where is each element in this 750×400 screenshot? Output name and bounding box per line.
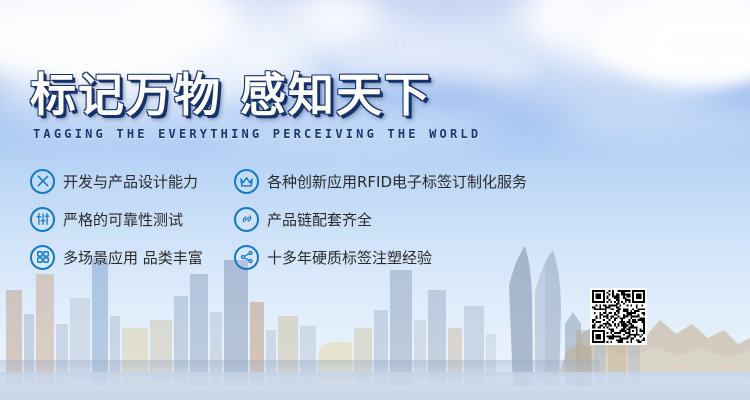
share-icon (234, 245, 259, 270)
feature-label: 开发与产品设计能力 (63, 171, 198, 192)
page-title: 标记万物感知天下 (30, 72, 481, 118)
feature-item[interactable]: 开发与产品设计能力 (30, 162, 203, 200)
feature-column-left: 开发与产品设计能力 严格的可靠性测试 (30, 162, 203, 276)
crown-icon (234, 169, 259, 194)
title-part-1: 标记万物 (30, 69, 222, 121)
feature-item[interactable]: 十多年硬质标签注塑经验 (234, 238, 527, 276)
qr-code[interactable] (590, 288, 647, 345)
feature-label: 严格的可靠性测试 (63, 209, 183, 230)
waterfront (0, 372, 750, 400)
headline-block: 标记万物感知天下 TAGGING THE EVERYTHING PERCEIVI… (30, 72, 481, 141)
sliders-icon (30, 207, 55, 232)
title-part-2: 感知天下 (240, 69, 432, 121)
feature-item[interactable]: 产品链配套齐全 (234, 200, 527, 238)
grid-icon (30, 245, 55, 270)
feature-list: 开发与产品设计能力 严格的可靠性测试 (0, 162, 750, 280)
feature-label: 多场景应用 品类丰富 (63, 247, 203, 268)
link-icon (234, 207, 259, 232)
feature-item[interactable]: 多场景应用 品类丰富 (30, 238, 203, 276)
tools-icon (30, 169, 55, 194)
feature-label: 产品链配套齐全 (267, 209, 372, 230)
feature-item[interactable]: 严格的可靠性测试 (30, 200, 203, 238)
feature-label: 各种创新应用RFID电子标签订制化服务 (267, 171, 527, 192)
feature-item[interactable]: 各种创新应用RFID电子标签订制化服务 (234, 162, 527, 200)
page-subtitle: TAGGING THE EVERYTHING PERCEIVING THE WO… (33, 127, 481, 141)
feature-column-right: 各种创新应用RFID电子标签订制化服务 产品链配套齐全 (234, 162, 527, 276)
feature-label: 十多年硬质标签注塑经验 (267, 247, 432, 268)
promo-banner: 标记万物感知天下 TAGGING THE EVERYTHING PERCEIVI… (0, 0, 750, 400)
